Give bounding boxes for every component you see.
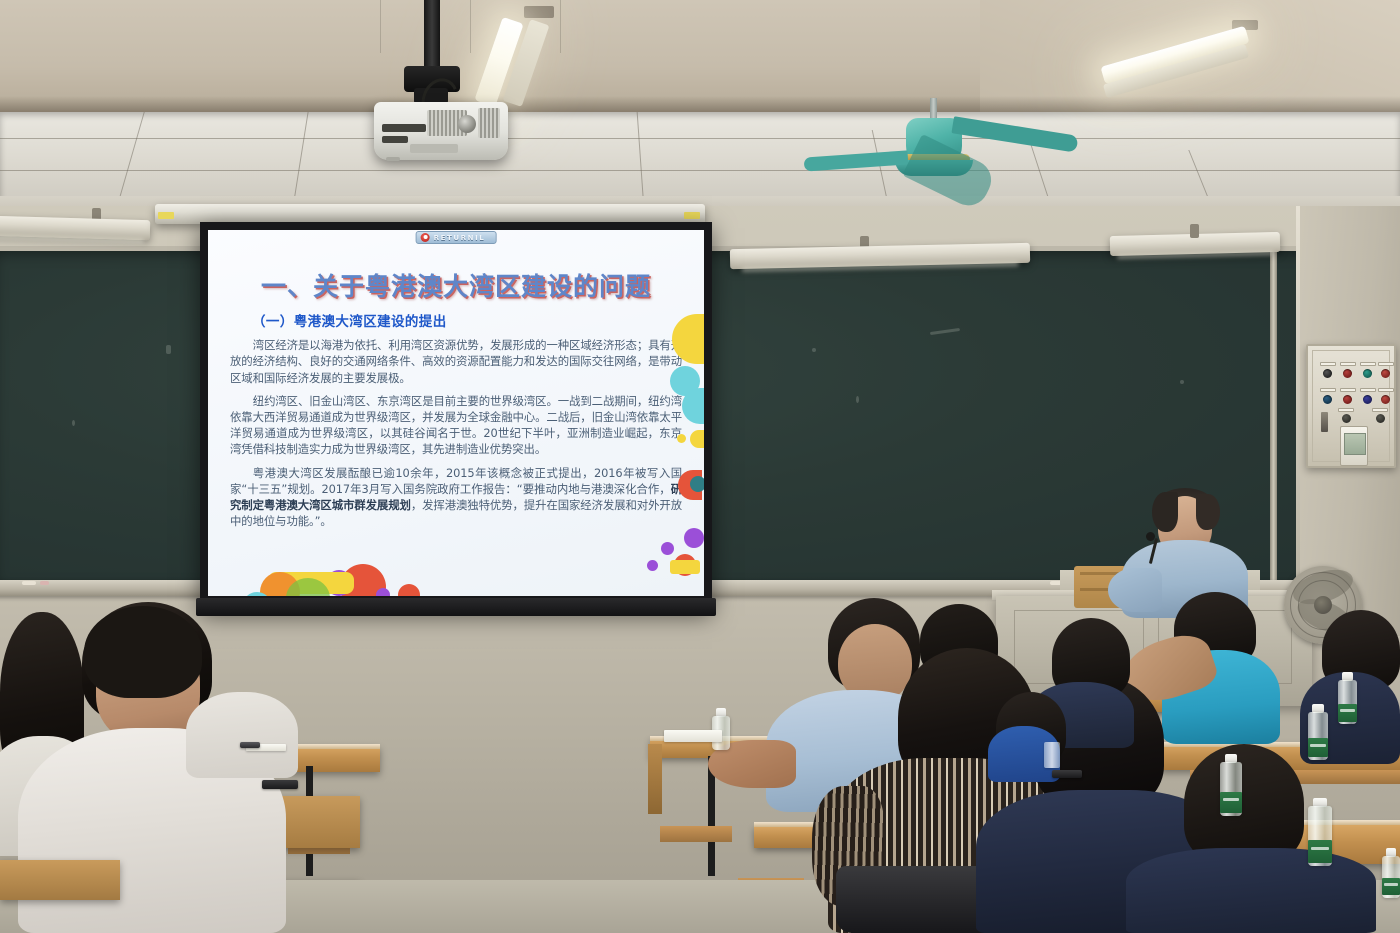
panel-button-label — [1360, 388, 1376, 392]
student-torso — [1126, 848, 1376, 933]
drinking-glass[interactable] — [1044, 742, 1060, 768]
housing-warning-tag — [158, 212, 174, 219]
panel-button-label — [1340, 388, 1356, 392]
bottle-label — [1338, 704, 1357, 722]
returnil-watermark-badge: RETURNIL — [416, 231, 497, 244]
panel-button-label — [1320, 362, 1336, 366]
projector-ports — [382, 124, 426, 132]
thermostat-lcd-display — [1344, 433, 1366, 455]
desk-shelf — [660, 826, 732, 842]
water-bottle[interactable] — [1220, 754, 1242, 816]
panel-knob-1[interactable] — [1342, 414, 1351, 423]
decor-shape-cyan — [682, 388, 704, 424]
water-bottle[interactable] — [1308, 704, 1328, 760]
slide-body: 湾区经济是以海港为依托、利用湾区资源优势，发展形成的一种区域经济形态；具有开放的… — [230, 337, 682, 529]
panel-button-6[interactable] — [1343, 395, 1352, 404]
projection-screen-surface: RETURNIL — [208, 230, 704, 596]
chalk-mark — [166, 345, 171, 354]
water-bottle[interactable] — [712, 708, 730, 750]
student-hair-top — [84, 606, 202, 698]
light-mount — [524, 6, 554, 18]
panel-toggle-switch[interactable] — [1321, 412, 1328, 432]
chalk-mark — [1180, 380, 1184, 384]
chalk-piece — [22, 581, 36, 585]
projector-foot — [386, 157, 400, 161]
water-bottle[interactable] — [1338, 672, 1357, 724]
panel-knob-label — [1372, 408, 1388, 412]
slide-paragraph-2: 纽约湾区、旧金山湾区、东京湾区是目前主要的世界级湾区。一战到二战期间，纽约湾依靠… — [230, 393, 682, 458]
projector-pipe — [424, 0, 440, 72]
projector-label — [410, 144, 458, 153]
bottle-label — [1308, 840, 1332, 863]
decor-shape-yellow-dot — [677, 434, 686, 443]
floor-tile-seam — [380, 0, 381, 53]
returnil-label: RETURNIL — [434, 234, 486, 242]
chair-back-rest — [0, 860, 120, 900]
bottle-label — [1382, 878, 1400, 895]
panel-knob-2[interactable] — [1376, 414, 1385, 423]
student-torso — [186, 692, 298, 778]
phone-on-desk[interactable] — [240, 742, 260, 748]
floor-tile-seam — [560, 0, 561, 53]
decor-shape-yellow — [690, 430, 704, 448]
panel-button-label — [1360, 362, 1376, 366]
bottle-label — [1308, 738, 1328, 757]
slide-title: 一、关于粤港澳大湾区建设的问题 — [230, 274, 682, 300]
panel-button-3[interactable] — [1363, 369, 1372, 378]
ceiling-grid-line — [0, 138, 1400, 139]
bottle-label — [1220, 792, 1242, 813]
board-light — [0, 216, 150, 240]
housing-warning-tag — [684, 212, 700, 219]
panel-button-label — [1378, 388, 1394, 392]
chalk-piece — [40, 581, 49, 585]
desk-side-panel — [648, 744, 662, 814]
floor-tile-seam — [470, 0, 471, 53]
student-hair — [1184, 744, 1304, 864]
lecturer-hair-side — [1152, 492, 1178, 532]
projection-screen-bottom-bar — [196, 598, 716, 616]
projector-vent — [478, 108, 500, 138]
projector-ports — [382, 136, 408, 143]
panel-button-5[interactable] — [1323, 395, 1332, 404]
projection-screen: RETURNIL — [200, 222, 712, 610]
panel-button-label — [1340, 362, 1356, 366]
panel-knob-label — [1338, 408, 1354, 412]
decor-shape-teal-dot — [690, 476, 704, 492]
blackboard-frame-seam — [1270, 246, 1277, 586]
slide-paragraph-3: 粤港澳大湾区发展酝酿已逾10余年，2015年该概念被正式提出，2016年被写入国… — [230, 465, 682, 530]
wall-thermostat[interactable] — [1340, 426, 1368, 466]
chalk-mark — [812, 348, 816, 352]
water-bottle[interactable] — [1308, 798, 1332, 866]
ceiling-grid-line — [0, 170, 1400, 171]
phone-on-desk[interactable] — [1052, 770, 1082, 778]
notebook[interactable] — [664, 730, 722, 742]
slide-content: RETURNIL — [208, 230, 704, 596]
board-light-bracket — [1190, 224, 1199, 238]
decor-shape-purple — [684, 528, 704, 548]
right-wall-edge — [1296, 206, 1300, 636]
panel-button-8[interactable] — [1381, 395, 1390, 404]
water-bottle[interactable] — [1382, 848, 1400, 898]
panel-button-label — [1320, 388, 1336, 392]
phone-on-desk[interactable] — [262, 780, 298, 789]
chalk-mark — [856, 396, 859, 403]
returnil-shield-icon — [421, 233, 430, 242]
decor-dot-purple — [376, 588, 390, 596]
panel-button-2[interactable] — [1343, 369, 1352, 378]
lecturer-arm — [1108, 568, 1162, 612]
decor-dot-red — [398, 584, 420, 596]
ceiling-panel-band — [0, 112, 1400, 208]
microphone-head — [1146, 532, 1155, 541]
chalk-mark — [72, 420, 75, 426]
lecturer-hair-side — [1196, 494, 1220, 530]
decor-shape-purple-dot — [661, 542, 674, 555]
slide-paragraph-3-part-a: 粤港澳大湾区发展酝酿已逾10余年，2015年该概念被正式提出，2016年被写入国… — [230, 466, 682, 496]
lecture-hall-scene: DYNA RETURNIL — [0, 0, 1400, 933]
panel-button-4[interactable] — [1381, 369, 1390, 378]
projector-lens — [458, 115, 476, 133]
decor-shape-yellow-bar — [670, 560, 700, 574]
slide-paragraph-1: 湾区经济是以海港为依托、利用湾区资源优势，发展形成的一种区域经济形态；具有开放的… — [230, 337, 682, 386]
panel-button-1[interactable] — [1323, 369, 1332, 378]
slide-subtitle: （一）粤港澳大湾区建设的提出 — [252, 310, 682, 330]
panel-button-label — [1378, 362, 1394, 366]
panel-button-7[interactable] — [1363, 395, 1372, 404]
decor-shape-purple-dot — [647, 560, 658, 571]
projection-screen-housing: DYNA — [155, 204, 705, 224]
